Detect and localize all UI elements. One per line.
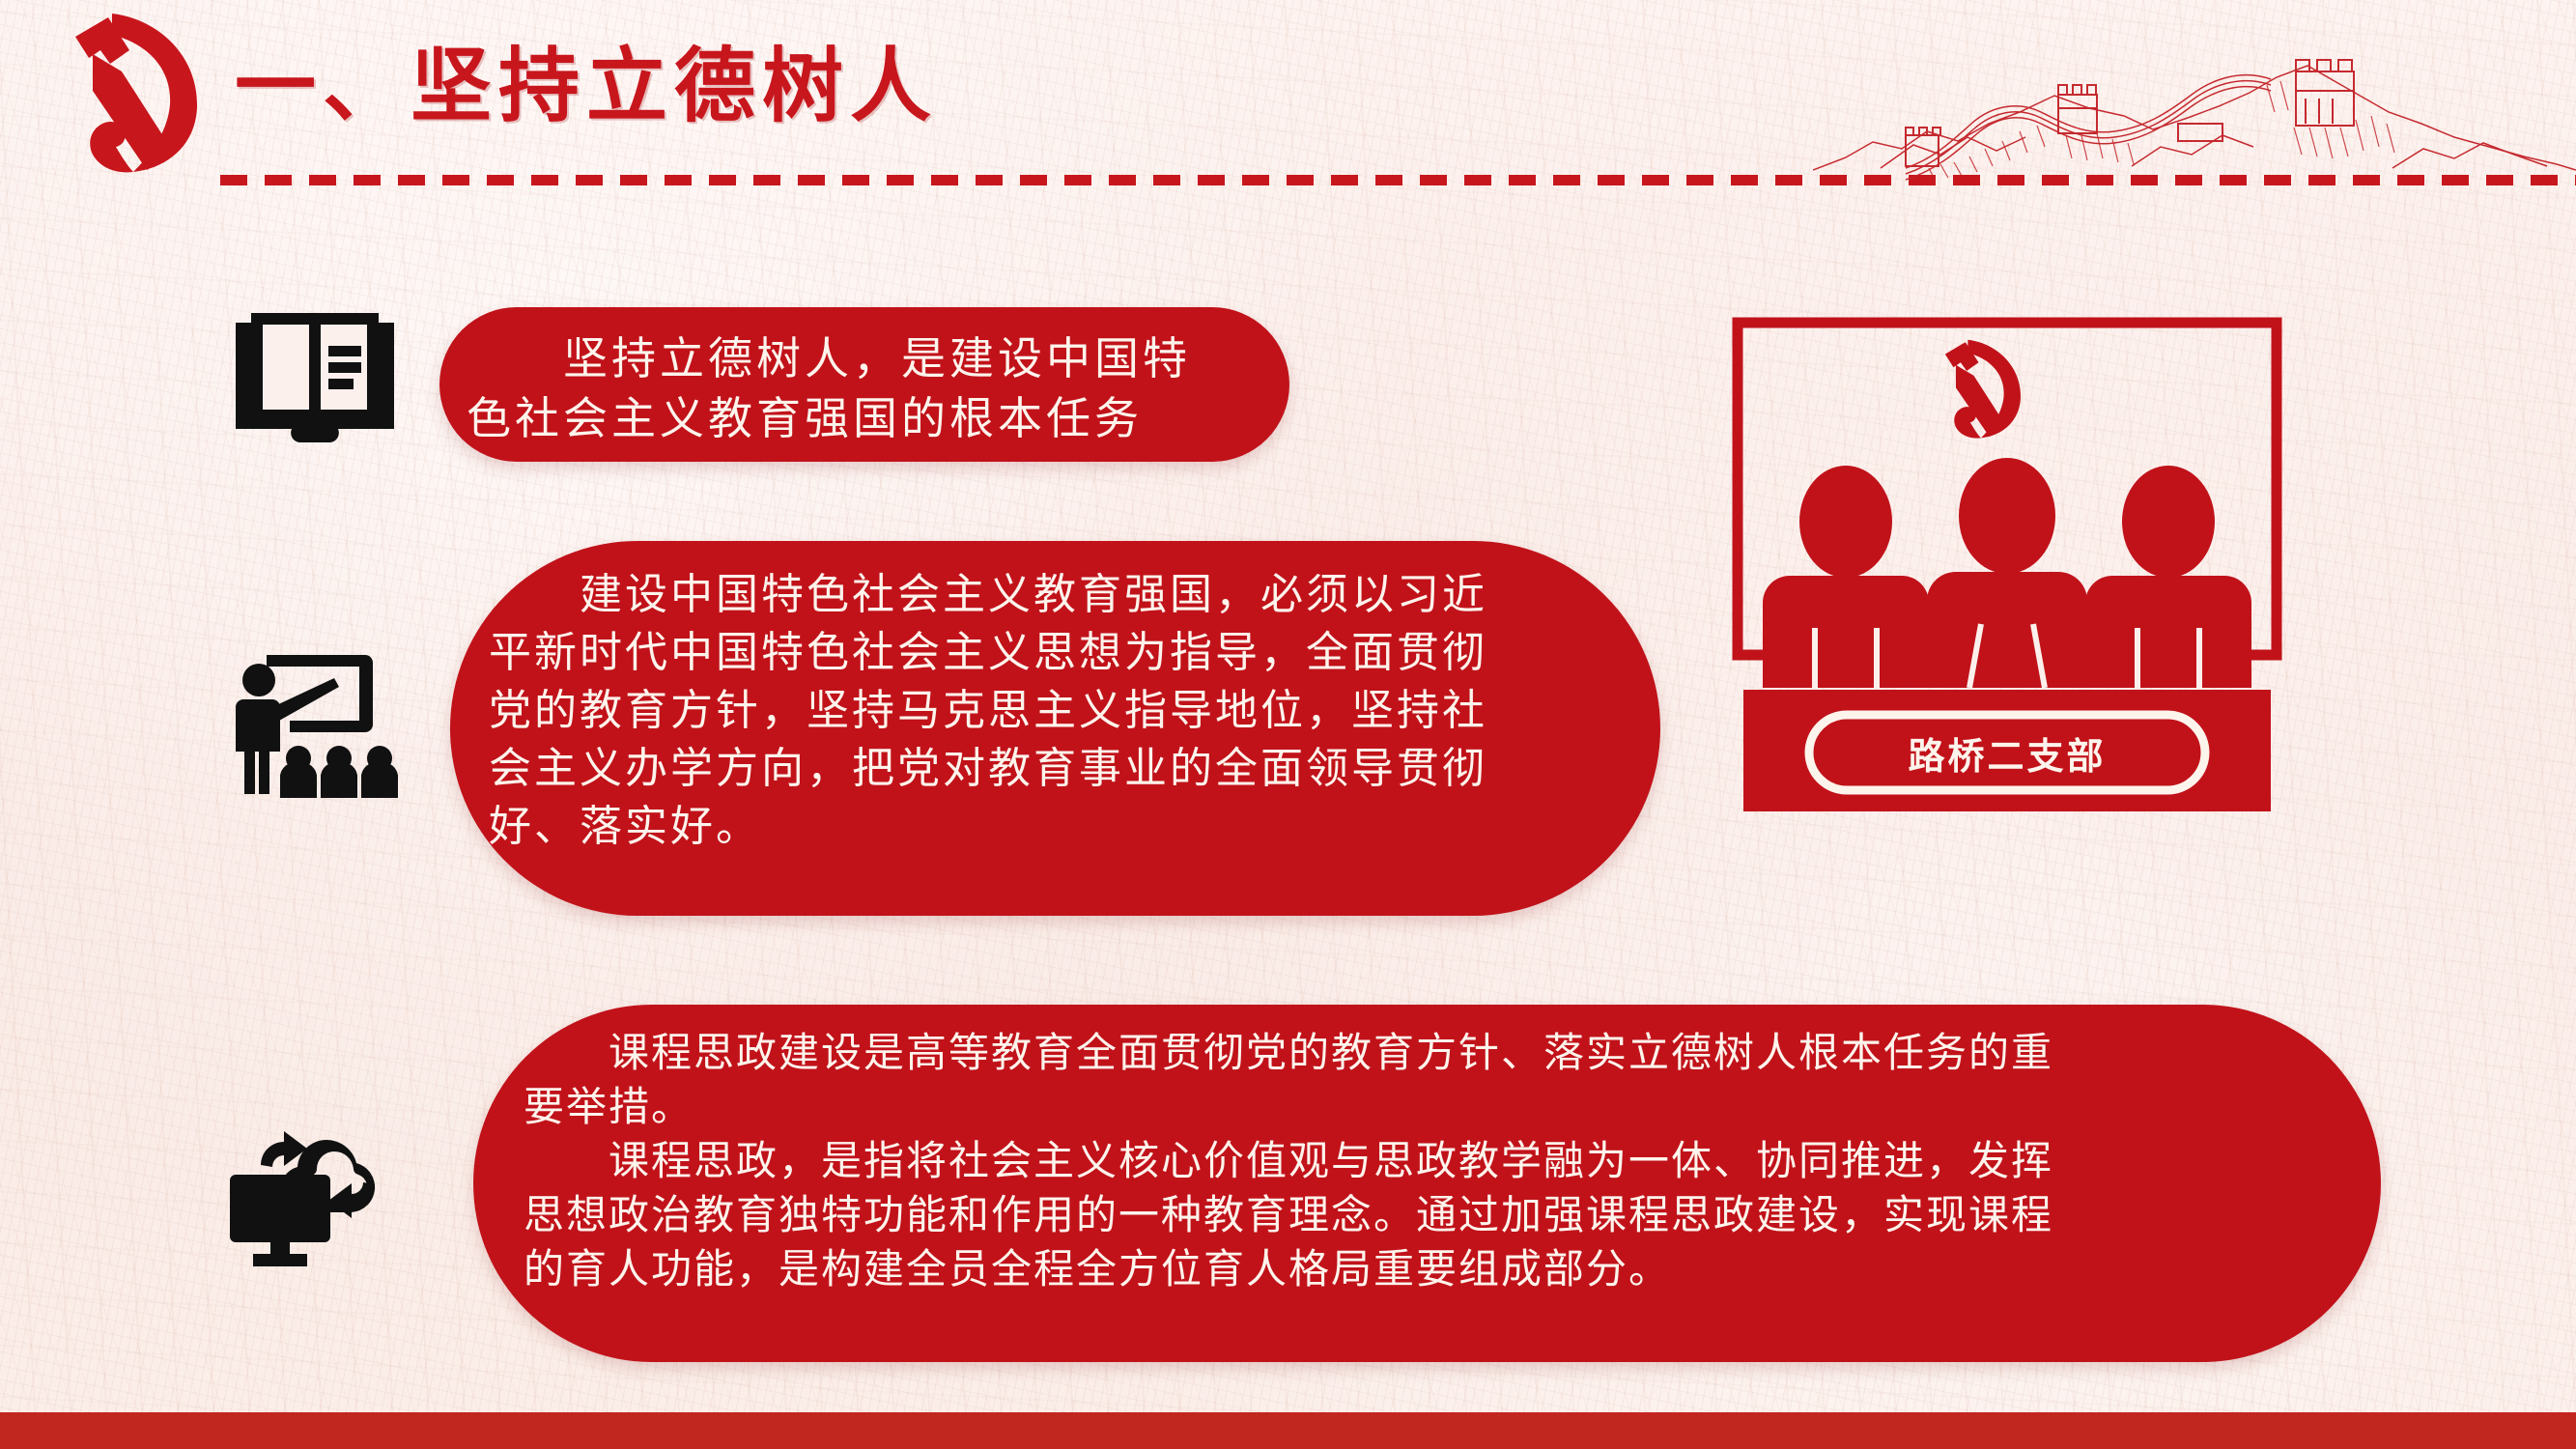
teacher-classroom-icon: [224, 649, 408, 833]
statement-line: 坚持立德树人，是建设中国特: [467, 328, 1260, 388]
statement-card-3: 课程思政建设是高等教育全面贯彻党的教育方针、落实立德树人根本任务的重 要举措。 …: [473, 1005, 2381, 1362]
open-book-icon: [232, 301, 398, 456]
page-title: 一、坚持立德树人: [235, 21, 938, 138]
statement-card-1: 坚持立德树人，是建设中国特 色社会主义教育强国的根本任务: [439, 307, 1289, 462]
statement-line: 要举措。: [524, 1080, 2342, 1134]
slide-canvas: 一、坚持立德树人: [0, 0, 2576, 1449]
statement-line: 好、落实好。: [489, 798, 1628, 856]
branch-badge-label: 路桥二支部: [1908, 726, 2106, 780]
statement-line: 建设中国特色社会主义教育强国，必须以习近: [489, 566, 1628, 624]
statement-line: 色社会主义教育强国的根本任务: [467, 388, 1260, 448]
cloud-computer-sync-icon: [228, 1109, 408, 1285]
statement-line: 会主义办学方向，把党对教育事业的全面领导贯彻: [489, 740, 1628, 798]
slide-header: 一、坚持立德树人: [0, 0, 2576, 198]
statement-line: 平新时代中国特色社会主义思想为指导，全面贯彻: [489, 624, 1628, 682]
statement-line: 的育人功能，是构建全员全程全方位育人格局重要组成部分。: [524, 1242, 2342, 1296]
party-hammer-sickle-emblem-icon: [37, 8, 220, 177]
statement-line: 党的教育方针，坚持马克思主义指导地位，坚持社: [489, 682, 1628, 740]
statement-line: 课程思政建设是高等教育全面贯彻党的教育方针、落实立德树人根本任务的重: [524, 1026, 2342, 1080]
statement-line: 课程思政，是指将社会主义核心价值观与思政教学融为一体、协同推进，发挥: [524, 1134, 2342, 1188]
footer-bar: [0, 1412, 2576, 1449]
party-branch-meeting-illustration: 路桥二支部: [1732, 317, 2282, 819]
statement-line: 思想政治教育独特功能和作用的一种教育理念。通过加强课程思政建设，实现课程: [524, 1188, 2342, 1242]
statement-card-2: 建设中国特色社会主义教育强国，必须以习近 平新时代中国特色社会主义思想为指导，全…: [450, 541, 1660, 916]
great-wall-illustration-icon: [1813, 23, 2576, 183]
